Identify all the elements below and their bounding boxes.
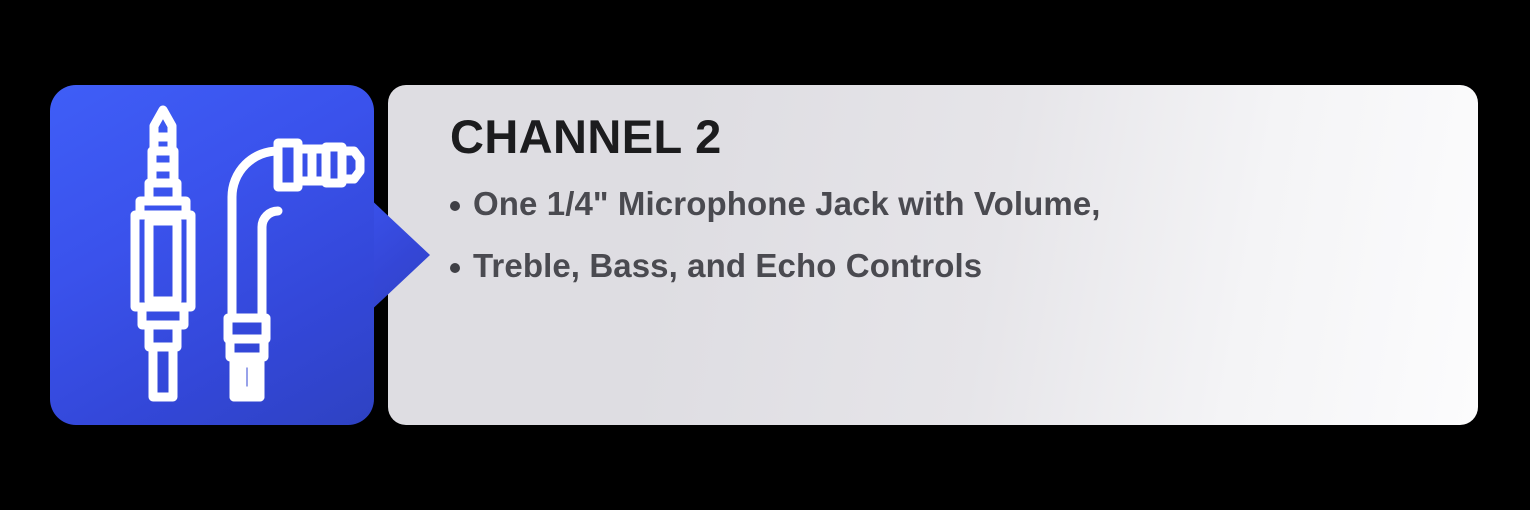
list-item-label: One 1/4" Microphone Jack with Volume, xyxy=(473,186,1101,222)
list-item-label: Treble, Bass, and Echo Controls xyxy=(473,248,982,284)
feature-bullet-list: One 1/4" Microphone Jack with Volume, Tr… xyxy=(450,186,1448,283)
list-item: One 1/4" Microphone Jack with Volume, xyxy=(450,186,1448,222)
bullet-dot-icon xyxy=(450,263,460,273)
card-content: CHANNEL 2 One 1/4" Microphone Jack with … xyxy=(450,113,1448,283)
list-item: Treble, Bass, and Echo Controls xyxy=(450,248,1448,284)
audio-jack-plugs-icon xyxy=(50,85,374,425)
feature-callout-banner: CHANNEL 2 One 1/4" Microphone Jack with … xyxy=(0,0,1530,510)
page-title: CHANNEL 2 xyxy=(450,113,1448,160)
icon-tile xyxy=(50,85,374,425)
info-card: CHANNEL 2 One 1/4" Microphone Jack with … xyxy=(388,85,1478,425)
bullet-dot-icon xyxy=(450,201,460,211)
